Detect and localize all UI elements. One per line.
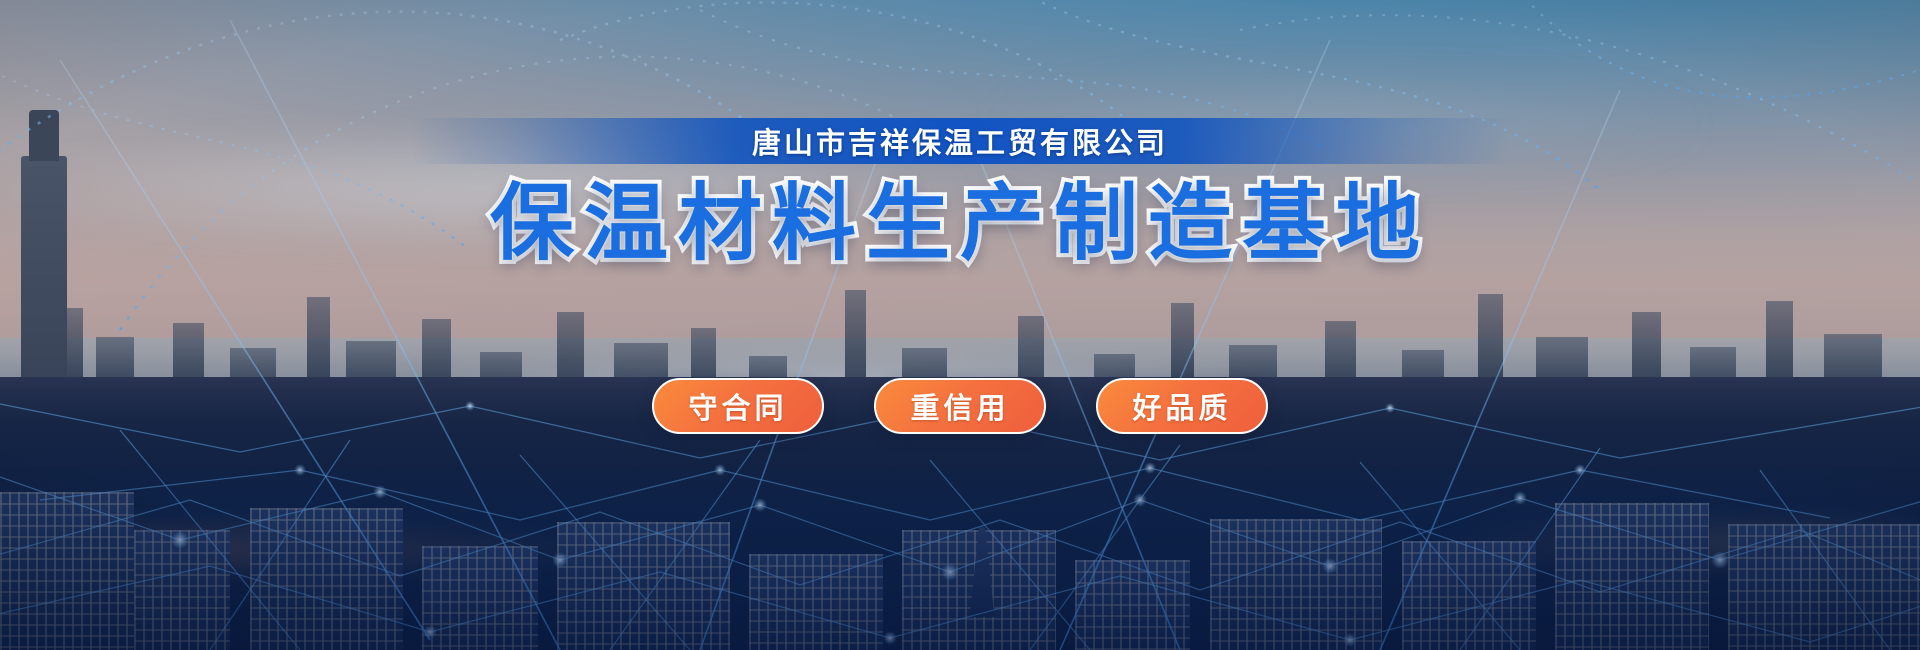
pill-shou-he-tong[interactable]: 守合同 <box>652 378 824 434</box>
banner-content: 唐山市吉祥保温工贸有限公司 保温材料生产制造基地 保温材料生产制造基地 守合同 … <box>0 0 1920 650</box>
pill-label: 好品质 <box>1132 385 1231 427</box>
pill-label: 守合同 <box>688 385 787 427</box>
company-name: 唐山市吉祥保温工贸有限公司 <box>752 120 1168 162</box>
feature-pill-group: 守合同 重信用 好品质 <box>652 378 1268 434</box>
pill-hao-pin-zhi[interactable]: 好品质 <box>1096 378 1268 434</box>
company-name-bar: 唐山市吉祥保温工贸有限公司 <box>410 118 1510 164</box>
pill-zhong-xin-yong[interactable]: 重信用 <box>874 378 1046 434</box>
hero-banner: 唐山市吉祥保温工贸有限公司 保温材料生产制造基地 保温材料生产制造基地 守合同 … <box>0 0 1920 650</box>
headline: 保温材料生产制造基地 <box>490 176 1430 270</box>
pill-label: 重信用 <box>910 385 1009 427</box>
